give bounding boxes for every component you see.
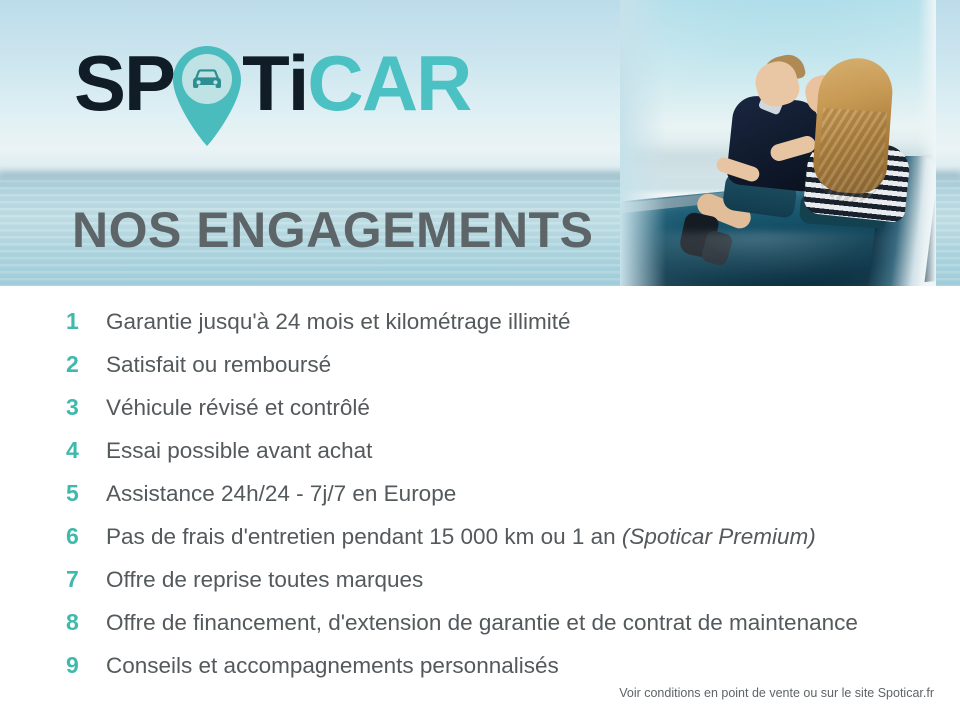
list-item-text: Assistance 24h/24 - 7j/7 en Europe [106, 472, 456, 515]
list-item: 2 Satisfait ou remboursé [0, 343, 960, 386]
hero-photo [620, 0, 936, 286]
list-item-text: Satisfait ou remboursé [106, 343, 331, 386]
commitments-list: 1 Garantie jusqu'à 24 mois et kilométrag… [0, 300, 960, 687]
logo-text-i: i [288, 46, 308, 120]
list-item: 9 Conseils et accompagnements personnali… [0, 644, 960, 687]
list-item-number: 7 [0, 558, 106, 601]
list-item: 1 Garantie jusqu'à 24 mois et kilométrag… [0, 300, 960, 343]
list-item: 4 Essai possible avant achat [0, 429, 960, 472]
list-item-text: Offre de reprise toutes marques [106, 558, 423, 601]
legal-footnote: Voir conditions en point de vente ou sur… [619, 686, 934, 700]
list-item-text-emphasis: (Spoticar Premium) [622, 524, 816, 549]
list-item-number: 1 [0, 300, 106, 343]
list-item-number: 8 [0, 601, 106, 644]
list-item-number: 6 [0, 515, 106, 558]
list-item-text: Pas de frais d'entretien pendant 15 000 … [106, 515, 816, 558]
list-item-number: 5 [0, 472, 106, 515]
spoticar-logo: SP T i CAR [74, 46, 470, 120]
logo-text-sp: SP [74, 46, 174, 120]
list-item-number: 3 [0, 386, 106, 429]
list-item-text: Offre de financement, d'extension de gar… [106, 601, 858, 644]
hero-banner: SP T i CAR NOS ENGAGEMENTS [0, 0, 960, 286]
map-pin-car-icon [170, 46, 244, 120]
list-item-text-main: Pas de frais d'entretien pendant 15 000 … [106, 524, 622, 549]
list-item-text: Conseils et accompagnements personnalisé… [106, 644, 559, 687]
list-item-text: Véhicule révisé et contrôlé [106, 386, 370, 429]
list-item-number: 9 [0, 644, 106, 687]
woman-hair [811, 56, 894, 196]
list-item-text: Essai possible avant achat [106, 429, 372, 472]
spoticar-commitments-poster: SP T i CAR NOS ENGAGEMENTS 1 Garantie ju… [0, 0, 960, 720]
list-item: 8 Offre de financement, d'extension de g… [0, 601, 960, 644]
car-roof-reflection [660, 232, 910, 286]
list-item-number: 4 [0, 429, 106, 472]
photo-fade-left [620, 0, 666, 286]
list-item: 7 Offre de reprise toutes marques [0, 558, 960, 601]
list-item-number: 2 [0, 343, 106, 386]
list-item: 5 Assistance 24h/24 - 7j/7 en Europe [0, 472, 960, 515]
page-title: NOS ENGAGEMENTS [72, 205, 593, 255]
photo-fade-right [918, 0, 936, 286]
list-item-text: Garantie jusqu'à 24 mois et kilométrage … [106, 300, 571, 343]
list-item: 3 Véhicule révisé et contrôlé [0, 386, 960, 429]
logo-text-t: T [242, 46, 288, 120]
logo-text-car: CAR [307, 46, 470, 120]
list-item: 6 Pas de frais d'entretien pendant 15 00… [0, 515, 960, 558]
